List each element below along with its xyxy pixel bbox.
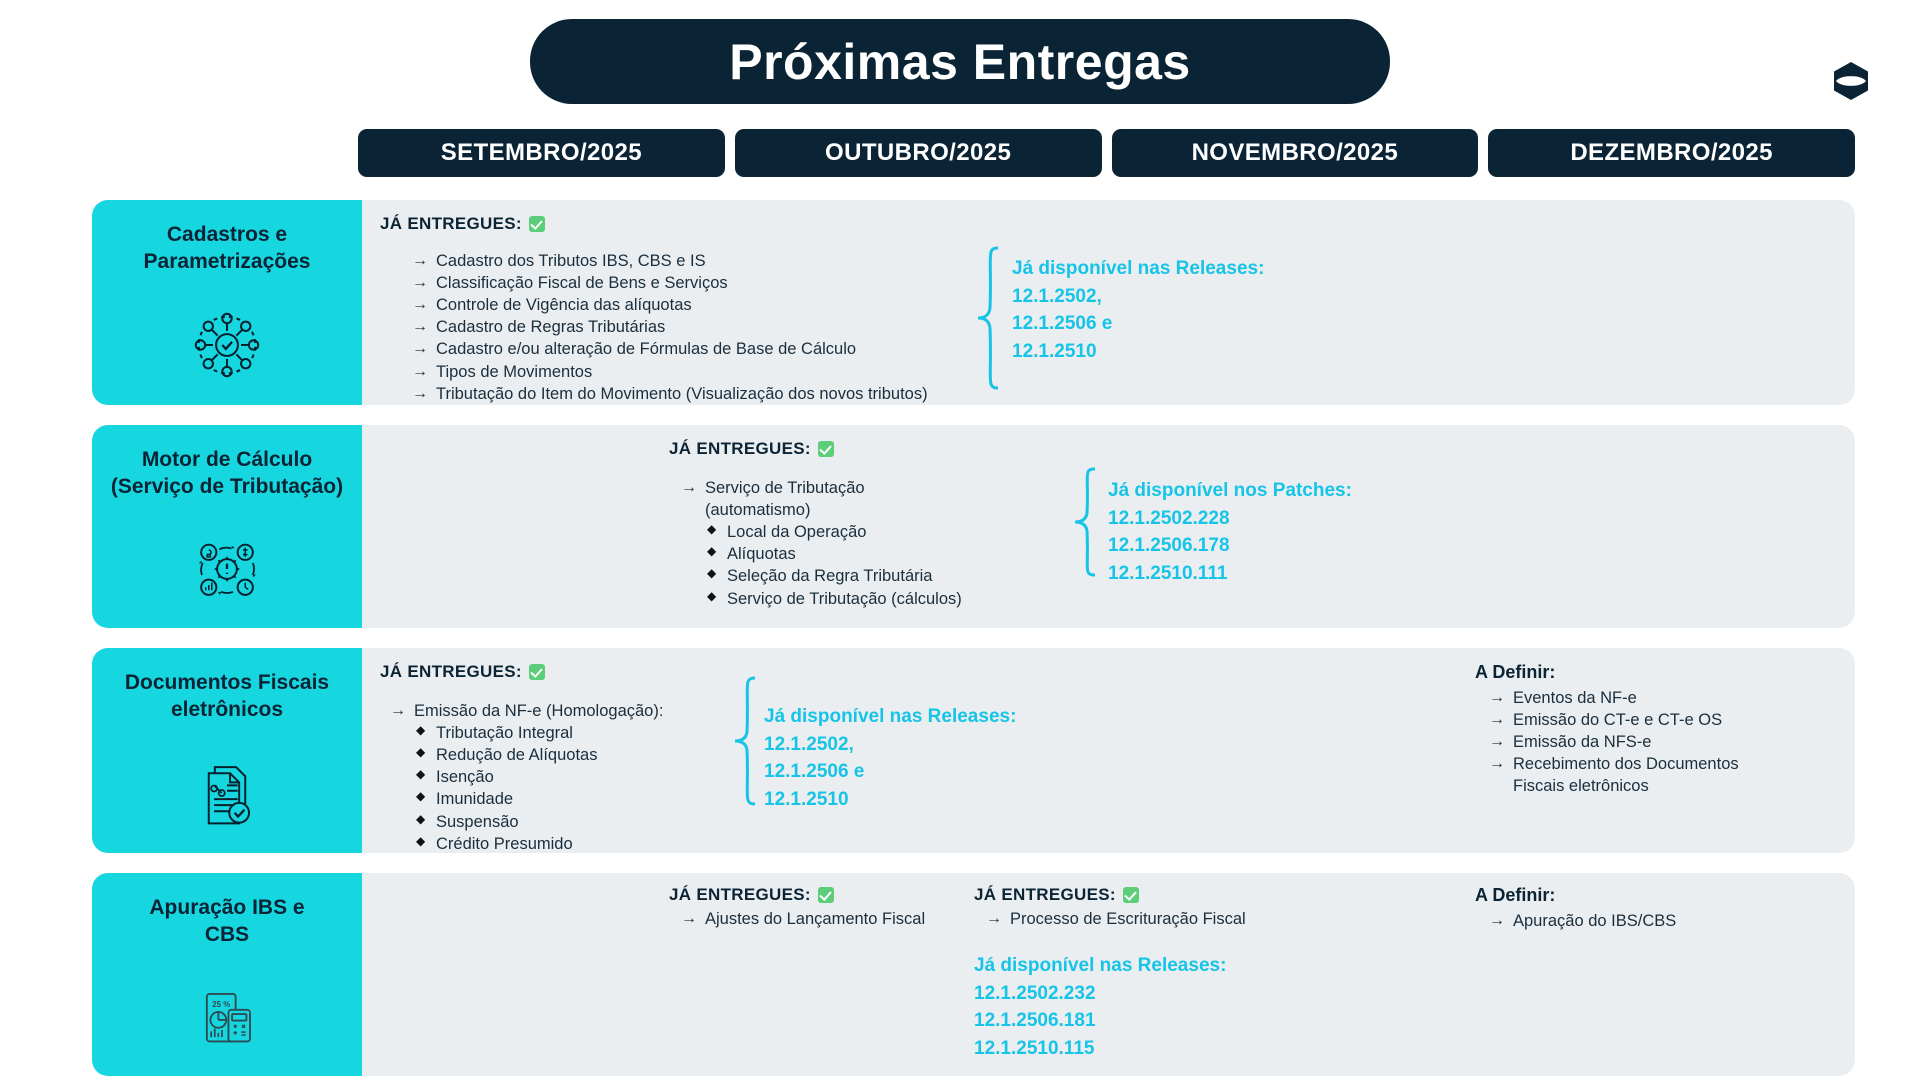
row-label-line2: (Serviço de Tributação) [111,474,343,501]
list-item: Eventos da NF-e [1489,687,1805,709]
delivered-heading-text: JÁ ENTREGUES: [380,214,522,234]
month-chip-outubro[interactable]: OUTUBRO/2025 [735,129,1102,177]
gear-cycle-finance-icon [189,511,265,628]
list-item: Emissão da NFS-e [1489,731,1805,753]
totvs-hexagon-logo-icon [1830,60,1872,102]
list-item: Cadastro dos Tributos IBS, CBS e IS [412,250,928,272]
release-line: 12.1.2502.228 [1108,505,1352,533]
delivered-list-outubro: Serviço de Tributação [681,477,962,499]
check-icon [818,441,834,457]
list-item: Processo de Escrituração Fiscal [986,908,1246,930]
to-define-heading: A Definir: [1475,885,1676,906]
check-icon [529,216,545,232]
release-block-novembro: Já disponível nas Releases: 12.1.2502.23… [974,952,1246,1062]
delivered-heading: JÁ ENTREGUES: [669,885,925,905]
brace-bracket-icon [1073,467,1101,582]
release-block-setembro: Já disponível nas Releases: 12.1.2502, 1… [764,703,1016,813]
list-item: Serviço de Tributação (cálculos) [705,588,962,610]
row-body-motor-calculo: JÁ ENTREGUES: Serviço de Tributação (aut… [362,425,1855,628]
month-chip-novembro[interactable]: NOVEMBRO/2025 [1112,129,1479,177]
list-item: Serviço de Tributação [681,477,962,499]
svg-text:25 %: 25 % [212,1000,230,1009]
delivered-list-setembro: Emissão da NF-e (Homologação): [390,700,663,722]
list-item: Emissão da NF-e (Homologação): [390,700,663,722]
delivered-block-setembro: JÁ ENTREGUES: Cadastro dos Tributos IBS,… [380,214,928,405]
to-define-list-dezembro: Apuração do IBS/CBS [1489,910,1676,932]
list-item: Ajustes do Lançamento Fiscal [681,908,925,930]
list-item-sub: (automatismo) [705,499,962,521]
row-label-cadastros: Cadastros e Parametrizações [92,200,362,405]
release-line: 12.1.2510.111 [1108,560,1352,588]
release-line: 12.1.2506 e [1012,310,1264,338]
list-item: Imunidade [414,788,663,810]
list-item: Controle de Vigência das alíquotas [412,294,928,316]
delivered-heading: JÁ ENTREGUES: [669,439,962,459]
release-line: 12.1.2510.115 [974,1035,1246,1063]
release-line: 12.1.2506 e [764,758,1016,786]
release-line: 12.1.2506.181 [974,1007,1246,1035]
delivered-heading-text: JÁ ENTREGUES: [380,662,522,682]
month-chip-dezembro[interactable]: DEZEMBRO/2025 [1488,129,1855,177]
list-item: Isenção [414,766,663,788]
row-label-line2: eletrônicos [125,697,329,724]
release-line: 12.1.2510 [764,786,1016,814]
page-title-pill: Próximas Entregas [530,19,1390,104]
row-motor-de-calculo: Motor de Cálculo (Serviço de Tributação) [92,425,1855,628]
row-label-line2: Parametrizações [144,249,311,276]
row-body-apuracao: JÁ ENTREGUES: Ajustes do Lançamento Fisc… [362,873,1855,1076]
list-item: Seleção da Regra Tributária [705,565,962,587]
delivered-list-setembro: Cadastro dos Tributos IBS, CBS e IS Clas… [412,250,928,405]
release-title: Já disponível nas Releases: [974,952,1246,980]
row-label-line1: Cadastros e [144,222,311,249]
row-label-line2: CBS [149,922,304,949]
to-define-list-dezembro: Eventos da NF-e Emissão do CT-e e CT-e O… [1489,687,1805,798]
list-item: Classificação Fiscal de Bens e Serviços [412,272,928,294]
delivered-heading: JÁ ENTREGUES: [380,214,928,234]
delivered-list-novembro: Processo de Escrituração Fiscal [986,908,1246,930]
network-gear-check-icon [188,286,266,405]
row-label-apuracao: Apuração IBS e CBS 25 % [92,873,362,1076]
check-icon [529,664,545,680]
list-item: Apuração do IBS/CBS [1489,910,1676,932]
row-body-documentos-fiscais: JÁ ENTREGUES: Emissão da NF-e (Homologaç… [362,648,1855,853]
check-icon [818,887,834,903]
list-item: Local da Operação [705,521,962,543]
list-item: Alíquotas [705,543,962,565]
delivered-list-outubro: Ajustes do Lançamento Fiscal [681,908,925,930]
row-label-line1: Apuração IBS e [149,895,304,922]
roadmap-page: Próximas Entregas SETEMBRO/2025 OUTUBRO/… [0,0,1920,1080]
list-item: Tributação do Item do Movimento (Visuali… [412,383,928,405]
list-item: Crédito Presumido [414,833,663,855]
list-item: Recebimento dos Documentos Fiscais eletr… [1489,753,1789,797]
brace-bracket-icon [733,676,761,811]
release-title: Já disponível nas Releases: [764,703,1016,731]
to-define-block-dezembro: A Definir: Eventos da NF-e Emissão do CT… [1475,662,1805,798]
list-item: Tributação Integral [414,722,663,744]
list-item: Emissão do CT-e e CT-e OS [1489,709,1805,731]
row-body-cadastros: JÁ ENTREGUES: Cadastro dos Tributos IBS,… [362,200,1855,405]
release-block-outubro: Já disponível nos Patches: 12.1.2502.228… [1108,477,1352,587]
row-label-line1: Documentos Fiscais [125,670,329,697]
delivered-heading: JÁ ENTREGUES: [974,885,1246,905]
release-line: 12.1.2510 [1012,338,1264,366]
row-cadastros-e-parametrizacoes: Cadastros e Parametrizações [92,200,1855,405]
to-define-block-dezembro: A Definir: Apuração do IBS/CBS [1475,885,1676,932]
check-icon [1123,887,1139,903]
row-label-line1: Motor de Cálculo [111,447,343,474]
to-define-heading: A Definir: [1475,662,1805,683]
list-item: Redução de Alíquotas [414,744,663,766]
row-documentos-fiscais-eletronicos: Documentos Fiscais eletrônicos [92,648,1855,853]
release-title: Já disponível nas Releases: [1012,255,1264,283]
release-line: 12.1.2502, [764,731,1016,759]
release-block-setembro: Já disponível nas Releases: 12.1.2502, 1… [1012,255,1264,365]
row-label-documentos-fiscais: Documentos Fiscais eletrônicos [92,648,362,853]
list-item: Cadastro de Regras Tributárias [412,316,928,338]
row-label-motor-calculo: Motor de Cálculo (Serviço de Tributação) [92,425,362,628]
list-item: Suspensão [414,811,663,833]
row-apuracao-ibs-e-cbs: Apuração IBS e CBS 25 % JÁ ENT [92,873,1855,1076]
page-title: Próximas Entregas [729,33,1190,91]
delivered-block-outubro: JÁ ENTREGUES: Serviço de Tributação (aut… [669,439,962,610]
delivered-heading-text: JÁ ENTREGUES: [669,885,811,905]
brace-bracket-icon [976,246,1004,395]
month-chip-setembro[interactable]: SETEMBRO/2025 [358,129,725,177]
month-header-bar: SETEMBRO/2025 OUTUBRO/2025 NOVEMBRO/2025… [358,129,1855,177]
delivered-heading-text: JÁ ENTREGUES: [974,885,1116,905]
document-percent-check-icon [189,734,265,853]
release-title: Já disponível nos Patches: [1108,477,1352,505]
delivered-sublist-outubro: Local da Operação Alíquotas Seleção da R… [705,521,962,609]
delivered-block-setembro: JÁ ENTREGUES: Emissão da NF-e (Homologaç… [380,662,663,855]
delivered-block-novembro: JÁ ENTREGUES: Processo de Escrituração F… [974,885,1246,1062]
release-line: 12.1.2502.232 [974,980,1246,1008]
delivered-sublist-setembro: Tributação Integral Redução de Alíquotas… [414,722,663,855]
release-line: 12.1.2506.178 [1108,532,1352,560]
delivered-block-outubro: JÁ ENTREGUES: Ajustes do Lançamento Fisc… [669,885,925,930]
release-line: 12.1.2502, [1012,283,1264,311]
list-item: Tipos de Movimentos [412,361,928,383]
list-item: Cadastro e/ou alteração de Fórmulas de B… [412,338,928,360]
delivered-heading: JÁ ENTREGUES: [380,662,663,682]
delivered-heading-text: JÁ ENTREGUES: [669,439,811,459]
chart-calculator-icon: 25 % [191,959,263,1076]
